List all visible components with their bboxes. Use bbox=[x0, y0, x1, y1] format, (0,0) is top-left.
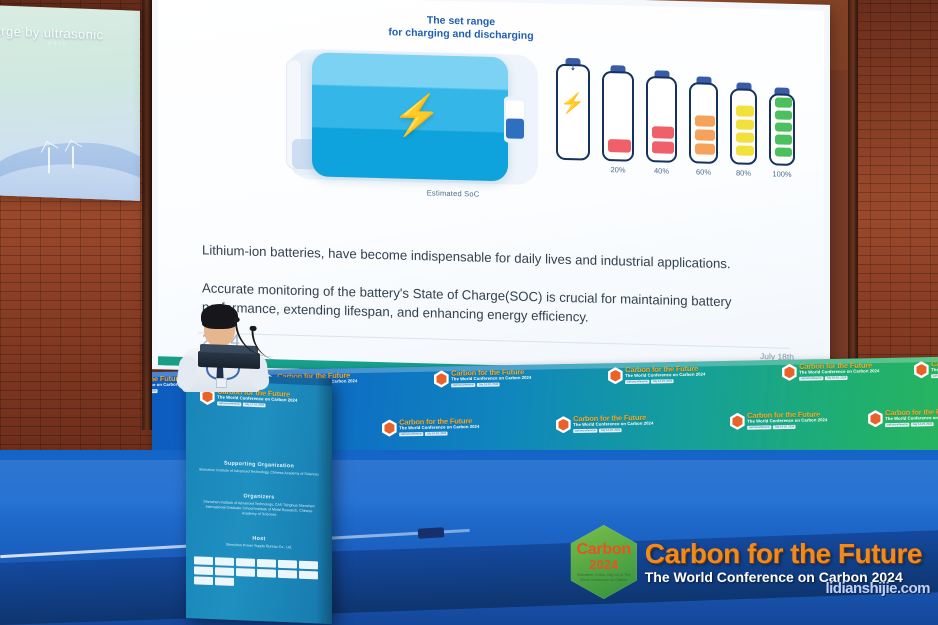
backdrop-logo-unit: Carbon for the FutureThe World Conferenc… bbox=[914, 359, 938, 378]
battery-percent-label: 40% bbox=[654, 166, 669, 175]
hex-badge-icon bbox=[730, 413, 745, 430]
battery-shell bbox=[730, 88, 757, 164]
battery-shell bbox=[769, 93, 795, 165]
wall-post-left bbox=[142, 0, 152, 430]
set-range-label: The set range for charging and dischargi… bbox=[356, 12, 566, 43]
battery-segment bbox=[775, 147, 792, 157]
battery-segment bbox=[775, 98, 792, 108]
slide-illustration: ⚡ The set range for charging and dischar… bbox=[158, 0, 824, 243]
sponsor-logo bbox=[194, 576, 213, 585]
battery-segment bbox=[736, 119, 754, 130]
hex-badge-icon bbox=[382, 419, 397, 436]
badge-line-2: 2024 bbox=[589, 558, 618, 572]
backdrop-logo-unit: Carbon for the FutureThe World Conferenc… bbox=[434, 369, 531, 388]
logo-chip-2: July 14-19, 2024 bbox=[825, 376, 848, 380]
backdrop-logo-unit: Carbon for the FutureThe World Conferenc… bbox=[782, 362, 879, 381]
hex-badge-icon bbox=[608, 367, 623, 384]
battery-percent-label: 100% bbox=[772, 169, 791, 179]
logo-chip-1: carbonconference bbox=[885, 423, 909, 427]
battery-percent-label: 60% bbox=[696, 167, 711, 176]
logo-chip-2: July 14-19, 2024 bbox=[477, 383, 500, 387]
backdrop-logo-unit: Carbon for the FutureThe World Conferenc… bbox=[868, 408, 938, 427]
battery-segment bbox=[695, 143, 715, 155]
battery-percent-label: 20% bbox=[610, 165, 625, 174]
secondary-screen-title: harge by ultrasonic bbox=[0, 23, 140, 45]
backdrop-logo-unit: Carbon for the FutureThe World Conferenc… bbox=[556, 414, 653, 433]
slide-paragraph-2: Accurate monitoring of the battery's Sta… bbox=[202, 278, 794, 332]
logo-chip-1: carbonconference bbox=[931, 374, 938, 378]
podium-section-support: Supporting Organization Shenzhen Institu… bbox=[186, 459, 332, 478]
large-battery-graphic: ⚡ bbox=[288, 49, 538, 186]
logo-chip-2: July 14-19, 2024 bbox=[243, 403, 266, 408]
charging-bolt-icon: ⚡ bbox=[560, 94, 585, 115]
logo-chip-1: carbonconference bbox=[799, 376, 823, 380]
logo-chip-1: carbonconference bbox=[747, 425, 771, 429]
logo-chip-2: July 14-19, 2024 bbox=[599, 428, 622, 432]
logo-chip-1: carbonconference bbox=[625, 380, 649, 384]
hex-badge-icon bbox=[556, 416, 571, 433]
battery-segment bbox=[695, 129, 715, 141]
sponsor-logo bbox=[236, 558, 255, 567]
battery-segment bbox=[775, 122, 792, 132]
logo-chip-1: carbonconference bbox=[451, 383, 475, 387]
logo-chip-1: carbonconference bbox=[399, 432, 423, 436]
power-plug-icon: ⭣ bbox=[570, 62, 575, 73]
secondary-projection-screen: harge by ultrasonic wave bbox=[0, 5, 140, 201]
battery-percent-label: 80% bbox=[736, 168, 751, 177]
lightning-bolt-icon: ⚡ bbox=[392, 95, 442, 136]
photo-scene: harge by ultrasonic wave ⚡ bbox=[0, 0, 938, 625]
battery-segment bbox=[736, 106, 754, 117]
battery-icon-20%: 20% bbox=[602, 65, 634, 66]
sponsor-logo bbox=[278, 570, 297, 579]
site-watermark: lidianshijie.com bbox=[825, 580, 930, 597]
hex-badge-icon bbox=[914, 361, 929, 378]
backdrop-logo-unit: Carbon for the FutureThe World Conferenc… bbox=[608, 365, 705, 384]
wind-turbine-icon bbox=[72, 146, 74, 168]
sponsor-logo bbox=[215, 577, 234, 586]
logo-chip-2: July 14-19, 2024 bbox=[911, 422, 934, 426]
sponsor-logo bbox=[257, 569, 276, 578]
battery-shell bbox=[646, 76, 677, 162]
hex-badge-icon bbox=[434, 370, 449, 387]
carbon-2024-badge-icon: Carbon 2024 Shenzhen, China, July 14-19 … bbox=[571, 525, 637, 599]
sponsor-logo bbox=[194, 556, 213, 565]
badge-line-1: Carbon bbox=[577, 542, 631, 558]
battery-segment bbox=[652, 126, 674, 139]
battery-segment bbox=[695, 115, 715, 127]
battery-segment bbox=[736, 145, 754, 156]
logo-chip-2: July 14-19, 2024 bbox=[425, 432, 448, 436]
battery-segment bbox=[775, 110, 792, 120]
battery-segment bbox=[652, 141, 674, 154]
podium-section-host: Host Shenzhen Power Supply Bureau Co., L… bbox=[186, 533, 332, 552]
laptop bbox=[198, 351, 260, 369]
battery-icon-charging: ⚡⭣ bbox=[556, 58, 590, 59]
backdrop-logo-subtitle: The World Conference on Carbon 2024 bbox=[931, 368, 938, 374]
logo-chip-2: July 14-19, 2024 bbox=[773, 425, 796, 429]
battery-icon-40%: 40% bbox=[646, 70, 677, 71]
secondary-screen-subtitle: wave bbox=[48, 40, 68, 47]
hex-badge-icon bbox=[868, 410, 883, 427]
cable-connector bbox=[418, 527, 444, 538]
overlay-title: Carbon for the Future bbox=[645, 540, 922, 569]
sponsor-logo bbox=[278, 560, 297, 569]
badge-line-3: Shenzhen, China, July 14-19 The World Co… bbox=[571, 573, 637, 582]
sponsor-logo bbox=[257, 559, 276, 568]
backdrop-logo-unit: Carbon for the FutureThe World Conferenc… bbox=[730, 411, 827, 430]
estimated-soc-caption: Estimated SoC bbox=[373, 187, 533, 200]
battery-shell bbox=[689, 82, 718, 163]
sponsor-logo bbox=[215, 557, 234, 566]
battery-level-row: ⚡⭣20%40%60%80%100% bbox=[556, 58, 816, 225]
battery-segment bbox=[608, 139, 631, 153]
slide-paragraph-1: Lithium-ion batteries, have become indis… bbox=[202, 242, 794, 273]
battery-segment bbox=[736, 132, 754, 143]
backdrop-logo-unit: Carbon for the FutureThe World Conferenc… bbox=[382, 418, 479, 437]
battery-icon-100%: 100% bbox=[769, 87, 795, 88]
logo-chip-1: carbonconference bbox=[217, 402, 241, 407]
wind-turbine-icon bbox=[48, 147, 50, 173]
podium: Carbon for the Future The World Conferen… bbox=[186, 373, 332, 624]
battery-icon-60%: 60% bbox=[689, 76, 718, 77]
logo-chip-1: carbonconference bbox=[573, 429, 597, 433]
sponsor-logo bbox=[194, 566, 213, 575]
battery-segment bbox=[775, 135, 792, 145]
logo-chip-2: July 14-19, 2024 bbox=[152, 389, 158, 393]
battery-icon-80%: 80% bbox=[730, 82, 757, 83]
logo-chip-2: July 14-19, 2024 bbox=[651, 379, 674, 383]
sponsor-logo-grid bbox=[194, 556, 324, 589]
podium-section-organizers: Organizers Shenzhen Institute of Advance… bbox=[186, 491, 332, 520]
sponsor-logo bbox=[215, 567, 234, 576]
sponsor-logo bbox=[236, 568, 255, 577]
battery-shell bbox=[602, 71, 634, 161]
name-badge bbox=[216, 378, 227, 388]
battery-shell: ⚡ bbox=[556, 64, 590, 160]
hex-badge-icon bbox=[782, 364, 797, 381]
